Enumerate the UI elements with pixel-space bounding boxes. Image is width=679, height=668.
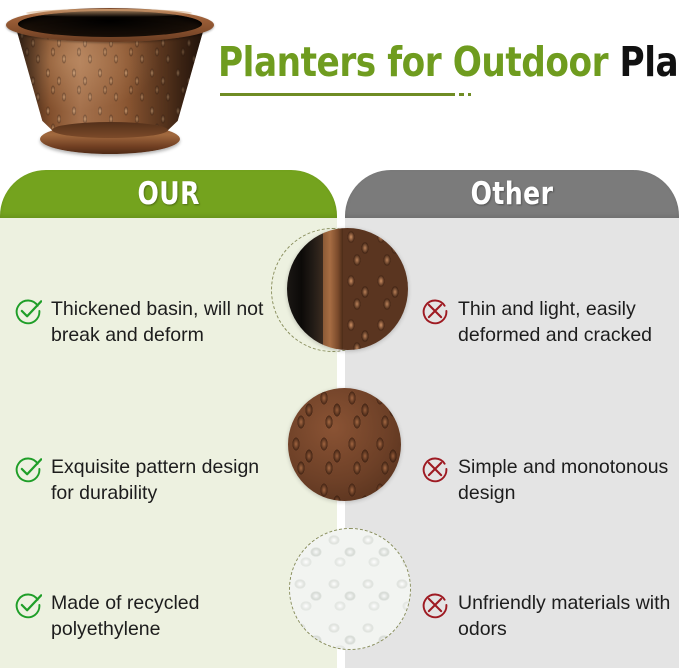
pot-body: [16, 28, 204, 136]
feature-row: Thin and light, easily deformed and crac…: [421, 296, 679, 348]
feature-text: Thin and light, easily deformed and crac…: [458, 296, 679, 348]
feature-row: Unfriendly materials with odors: [421, 590, 679, 642]
feature-row: Thickened basin, will not break and defo…: [14, 296, 264, 348]
title-underline-dash: [459, 93, 464, 96]
feature-text: Exquisite pattern design for durability: [51, 454, 264, 506]
infographic-root: Planters for Outdoor Plants OUR Thickene…: [0, 0, 679, 668]
rim-closeup-texture: [343, 228, 408, 350]
title-secondary: Plants: [620, 38, 679, 86]
check-circle-icon: [14, 297, 42, 325]
column-our-header: OUR: [0, 170, 337, 218]
cross-circle-icon: [421, 591, 449, 619]
feature-text: Unfriendly materials with odors: [458, 590, 679, 642]
column-other-header: Other: [345, 170, 679, 218]
banner: Planters for Outdoor Plants: [0, 0, 679, 170]
planter-product-image: [4, 4, 216, 162]
rim-closeup-circle: [287, 228, 408, 350]
title-underline-dot: [468, 93, 471, 96]
cross-circle-icon: [421, 455, 449, 483]
page-title: Planters for Outdoor Plants: [218, 40, 674, 84]
feature-row: Exquisite pattern design for durability: [14, 454, 264, 506]
check-circle-icon: [14, 591, 42, 619]
title-primary: Planters for Outdoor: [218, 38, 608, 86]
feature-text: Simple and monotonous design: [458, 454, 679, 506]
column-other-title: Other: [471, 176, 554, 212]
rim-closeup-dark-band: [287, 228, 323, 350]
pot-shading: [16, 28, 204, 136]
polyethylene-pellets-circle: [289, 528, 411, 650]
pot-saucer-inner: [52, 122, 168, 138]
feature-row: Made of recycled polyethylene: [14, 590, 264, 642]
feature-row: Simple and monotonous design: [421, 454, 679, 506]
pebble-texture-circle: [288, 388, 401, 501]
feature-text: Made of recycled polyethylene: [51, 590, 264, 642]
rim-closeup-brown-strip: [323, 228, 342, 350]
title-underline: [220, 93, 471, 96]
title-underline-bar: [220, 93, 455, 96]
column-our-title: OUR: [137, 176, 199, 212]
pot-rim-highlight: [26, 9, 192, 17]
feature-text: Thickened basin, will not break and defo…: [51, 296, 264, 348]
cross-circle-icon: [421, 297, 449, 325]
check-circle-icon: [14, 455, 42, 483]
